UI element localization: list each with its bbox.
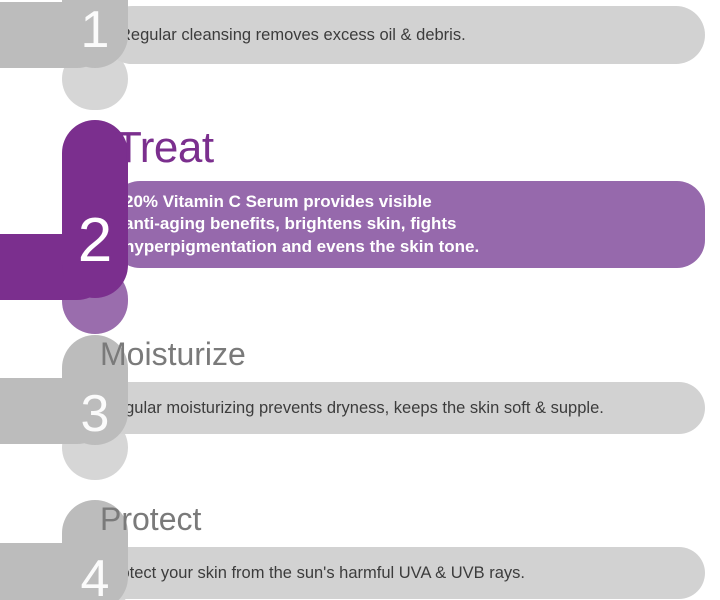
step-3[interactable]: Moisturize Regular moisturizing prevents… [0, 330, 720, 485]
step-1-body-text: Regular cleansing removes excess oil & d… [119, 26, 466, 45]
step-4-number: 4 [62, 553, 128, 600]
step-2-heading: Treat [115, 126, 214, 170]
step-4[interactable]: Protect Protect your skin from the sun's… [0, 495, 720, 600]
step-4-heading: Protect [100, 503, 201, 535]
skincare-routine-infographic: Regular cleansing removes excess oil & d… [0, 0, 720, 600]
step-3-body-text: Regular moisturizing prevents dryness, k… [104, 399, 604, 418]
step-4-text-bar[interactable]: Protect your skin from the sun's harmful… [95, 547, 705, 599]
step-2-body-text: 20% Vitamin C Serum provides visible ant… [124, 191, 479, 257]
step-1-number: 1 [62, 4, 128, 56]
step-2[interactable]: Treat 20% Vitamin C Serum provides visib… [0, 118, 720, 318]
step-4-body-text: Protect your skin from the sun's harmful… [104, 564, 525, 583]
step-1-text-bar[interactable]: Regular cleansing removes excess oil & d… [103, 6, 705, 64]
step-2-text-bar[interactable]: 20% Vitamin C Serum provides visible ant… [112, 181, 705, 268]
step-1[interactable]: Regular cleansing removes excess oil & d… [0, 0, 720, 110]
step-2-number: 2 [62, 210, 128, 272]
step-3-number: 3 [62, 388, 128, 440]
step-3-text-bar[interactable]: Regular moisturizing prevents dryness, k… [95, 382, 705, 434]
step-3-heading: Moisturize [100, 338, 246, 370]
